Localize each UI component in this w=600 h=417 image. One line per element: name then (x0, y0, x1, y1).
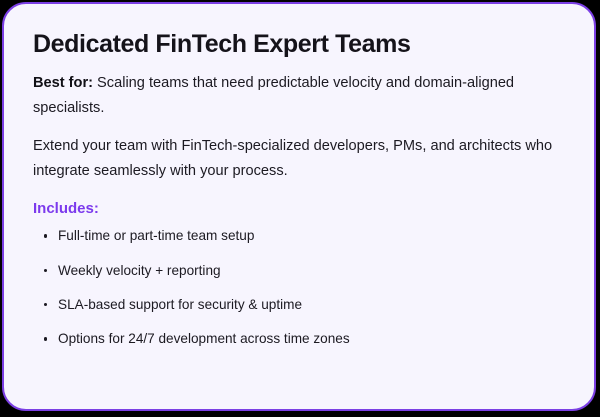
card-description: Extend your team with FinTech-specialize… (33, 134, 568, 185)
card-content: Dedicated FinTech Expert Teams Best for:… (4, 4, 594, 349)
card-title: Dedicated FinTech Expert Teams (33, 30, 568, 59)
best-for-text: Scaling teams that need predictable velo… (33, 75, 514, 116)
list-item: Full-time or part-time team setup (33, 227, 568, 245)
includes-list: Full-time or part-time team setup Weekly… (33, 227, 568, 348)
best-for-paragraph: Best for: Scaling teams that need predic… (33, 71, 568, 122)
list-item: SLA-based support for security & uptime (33, 296, 568, 314)
includes-label: Includes: (33, 198, 568, 219)
best-for-label: Best for: (33, 75, 93, 91)
service-offering-card: Dedicated FinTech Expert Teams Best for:… (2, 2, 596, 411)
list-item: Options for 24/7 development across time… (33, 330, 568, 348)
list-item: Weekly velocity + reporting (33, 262, 568, 280)
